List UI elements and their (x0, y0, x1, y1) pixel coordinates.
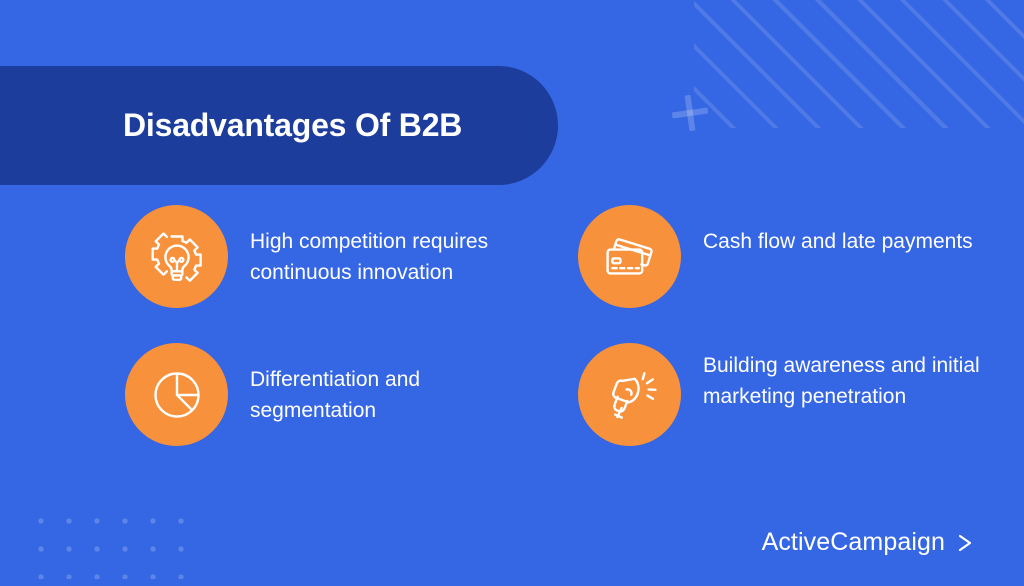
credit-cards-icon (578, 205, 681, 308)
lightbulb-gear-icon (125, 205, 228, 308)
list-item-label: High competition requires continuous inn… (250, 205, 550, 289)
list-item: Cash flow and late payments (578, 205, 998, 308)
list-item-label: Cash flow and late payments (703, 205, 973, 258)
logo-wordmark: ActiveCampaign (762, 528, 945, 557)
infographic-canvas: Disadvantages Of B2B High c (0, 0, 1024, 586)
list-item-label: Differentiation and segmentation (250, 343, 550, 427)
list-row: High competition requires continuous inn… (125, 205, 1005, 308)
list-item: High competition requires continuous inn… (125, 205, 578, 308)
list-item: Differentiation and segmentation (125, 343, 578, 446)
list-item: Building awareness and initial marketing… (578, 343, 998, 446)
plus-mark-icon (670, 93, 711, 134)
list-item-label: Building awareness and initial marketing… (703, 343, 998, 413)
page-title: Disadvantages Of B2B (123, 107, 462, 144)
activecampaign-logo: ActiveCampaign (762, 528, 976, 557)
chevron-right-icon (954, 532, 976, 554)
pie-chart-icon (125, 343, 228, 446)
dot-grid-pattern (25, 505, 193, 579)
megaphone-icon (578, 343, 681, 446)
diagonal-stripes-pattern (694, 0, 1024, 128)
list-row: Differentiation and segmentation (125, 343, 1005, 446)
title-banner: Disadvantages Of B2B (0, 66, 558, 185)
disadvantages-list: High competition requires continuous inn… (125, 205, 1005, 446)
